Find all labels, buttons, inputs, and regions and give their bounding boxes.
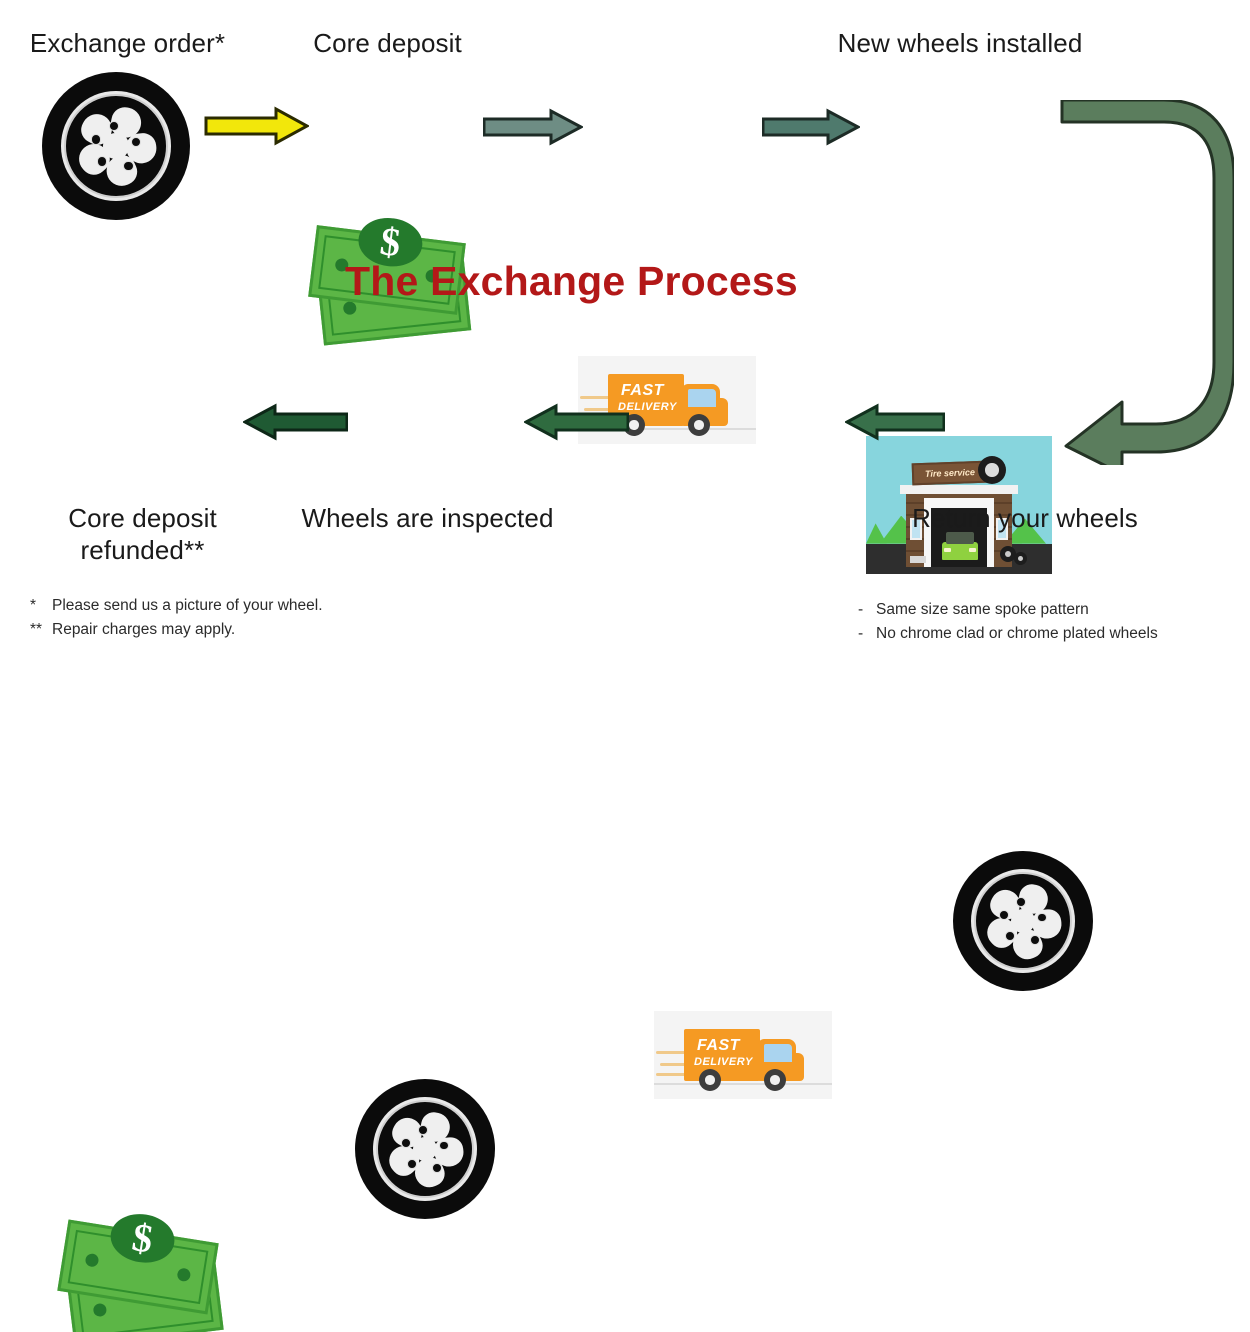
lug-nut	[1030, 935, 1040, 945]
lug-nut	[1016, 897, 1026, 907]
requirement-marker: -	[858, 598, 876, 622]
label-core-deposit-refunded: Core deposit refunded**	[30, 503, 255, 566]
truck-wheel-front	[688, 414, 710, 436]
page-title: The Exchange Process	[345, 258, 798, 305]
footnotes-left: * Please send us a picture of your wheel…	[30, 594, 450, 642]
arrow-truck-to-inspect	[524, 403, 629, 441]
exchange-process-diagram: Exchange order* Core deposit $	[0, 0, 1250, 666]
lug-nut	[401, 1138, 411, 1148]
toolbox	[910, 556, 926, 563]
rim-spokes	[377, 1101, 472, 1196]
lug-nut	[97, 156, 107, 166]
truck-windshield	[764, 1044, 792, 1062]
arrow-order-to-deposit	[204, 106, 309, 146]
label-return-your-wheels: Return your wheels	[885, 503, 1165, 535]
wheel-icon-exchange-order	[42, 72, 190, 220]
requirement-item: - Same size same spoke pattern	[858, 598, 1248, 622]
footnote-marker: **	[30, 618, 52, 642]
rim-spokes	[975, 873, 1070, 968]
tire-pile	[1014, 552, 1027, 565]
requirement-marker: -	[858, 622, 876, 646]
shop-sign-text: Tire service	[914, 463, 987, 484]
arrow-inspect-to-refund	[243, 403, 348, 441]
requirements-right: - Same size same spoke pattern - No chro…	[858, 598, 1248, 646]
lug-nut	[123, 161, 133, 171]
footnote-marker: *	[30, 594, 52, 618]
requirement-text: No chrome clad or chrome plated wheels	[876, 622, 1158, 646]
car-headlight	[969, 548, 976, 552]
label-wheels-are-inspected: Wheels are inspected	[295, 503, 560, 535]
car-headlight	[944, 548, 951, 552]
truck-nose	[792, 1053, 804, 1081]
arrow-shop-to-return	[1044, 100, 1234, 465]
footnote-item: * Please send us a picture of your wheel…	[30, 594, 450, 618]
money-icon-core-deposit-refunded: $ $	[58, 1225, 233, 1332]
label-core-deposit: Core deposit	[290, 28, 485, 60]
wheel-hub	[413, 1137, 437, 1161]
truck-text-fast: FAST	[621, 382, 664, 400]
truck-text-delivery: DELIVERY	[694, 1056, 753, 1068]
truck-windshield	[688, 389, 716, 407]
footnote-item: ** Repair charges may apply.	[30, 618, 450, 642]
requirement-text: Same size same spoke pattern	[876, 598, 1089, 622]
truck-nose	[716, 398, 728, 426]
arrow-return-to-truck	[845, 403, 945, 441]
truck-wheel-front	[764, 1069, 786, 1091]
arrow-deposit-to-truck	[483, 108, 583, 146]
rim-spokes	[66, 96, 167, 197]
label-new-wheels-installed: New wheels installed	[800, 28, 1120, 60]
truck-ground-line	[654, 1083, 832, 1085]
lug-nut	[439, 1141, 449, 1151]
lug-nut	[432, 1163, 442, 1173]
footnote-text: Please send us a picture of your wheel.	[52, 594, 323, 618]
wheel-hub	[1011, 909, 1035, 933]
lug-nut	[109, 121, 119, 131]
dollar-symbol: $	[378, 221, 403, 263]
lug-nut	[418, 1125, 428, 1135]
label-exchange-order: Exchange order*	[10, 28, 245, 60]
delivery-truck-icon-inbound: FAST DELIVERY	[654, 1011, 832, 1099]
label-line-2: refunded**	[30, 535, 255, 567]
truck-text-fast: FAST	[697, 1037, 740, 1055]
requirement-item: - No chrome clad or chrome plated wheels	[858, 622, 1248, 646]
wheel-icon-return-your-wheels	[953, 851, 1093, 991]
shop-sign: Tire service	[912, 461, 989, 486]
footnote-text: Repair charges may apply.	[52, 618, 235, 642]
dollar-symbol: $	[129, 1217, 155, 1260]
sign-tire-icon	[978, 456, 1006, 484]
lug-nut	[999, 910, 1009, 920]
truck-wheel-rear	[699, 1069, 721, 1091]
wheel-hub	[103, 133, 128, 158]
shop-roof	[900, 485, 1018, 494]
wheel-icon-wheels-are-inspected	[355, 1079, 495, 1219]
arrow-truck-to-shop	[762, 108, 860, 146]
label-line-1: Core deposit	[30, 503, 255, 535]
lug-nut	[407, 1159, 417, 1169]
lug-nut	[91, 134, 101, 144]
lug-nut	[1005, 931, 1015, 941]
lug-nut	[1037, 913, 1047, 923]
